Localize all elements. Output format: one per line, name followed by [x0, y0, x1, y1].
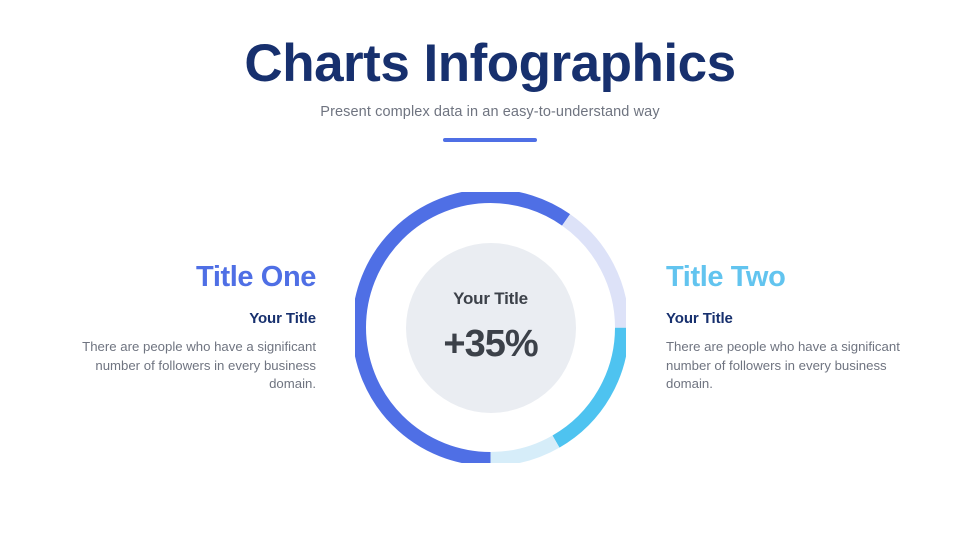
donut-chart: Your Title +35% — [355, 192, 626, 463]
panel-right-body: There are people who have a significant … — [666, 327, 906, 394]
page-subtitle: Present complex data in an easy-to-under… — [0, 92, 980, 120]
page-title: Charts Infographics — [0, 0, 980, 92]
donut-center-label: Your Title — [453, 289, 528, 309]
panel-left-subheading: Your Title — [76, 294, 316, 327]
accent-divider — [443, 138, 537, 142]
panel-left: Title One Your Title There are people wh… — [76, 262, 316, 394]
panel-right-subheading: Your Title — [666, 294, 906, 327]
panel-left-heading: Title One — [76, 262, 316, 294]
panel-left-body: There are people who have a significant … — [76, 327, 316, 394]
slide-header: Charts Infographics Present complex data… — [0, 0, 980, 142]
panel-right: Title Two Your Title There are people wh… — [666, 262, 906, 394]
panel-right-heading: Title Two — [666, 262, 906, 294]
donut-center-disc: Your Title +35% — [406, 243, 576, 413]
donut-center-value: +35% — [443, 323, 537, 366]
